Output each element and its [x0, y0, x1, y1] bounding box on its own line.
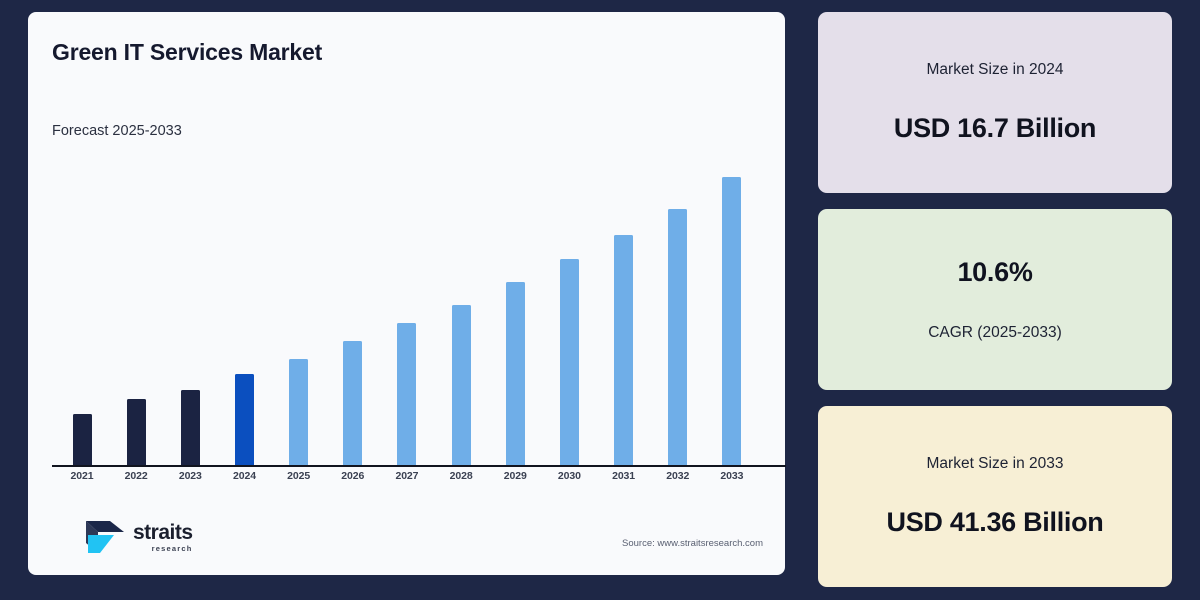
bar-slot [656, 162, 700, 467]
x-axis-label-2028: 2028 [439, 470, 483, 482]
x-axis-label-2021: 2021 [60, 470, 104, 482]
bar-2033[interactable] [722, 177, 741, 467]
bar-slot [385, 162, 429, 467]
bar-2024[interactable] [235, 374, 254, 467]
bar-slot [168, 162, 212, 467]
x-axis-line [52, 465, 786, 468]
straits-research-logo: straits research [84, 517, 193, 557]
bar-2029[interactable] [506, 282, 525, 467]
bar-slot [602, 162, 646, 467]
logo-name: straits [133, 522, 193, 543]
x-axis-label-2025: 2025 [277, 470, 321, 482]
bar-slot [547, 162, 591, 467]
chart-panel: Green IT Services Market Forecast 2025-2… [28, 12, 785, 575]
logo-chevron-icon [84, 517, 126, 557]
x-axis-labels: 2021202220232024202520262027202820292030… [52, 470, 762, 482]
bar-slot [331, 162, 375, 467]
bar-2023[interactable] [181, 390, 200, 467]
logo-subtitle: research [152, 545, 193, 553]
bar-2028[interactable] [452, 305, 471, 467]
x-axis-label-2029: 2029 [493, 470, 537, 482]
bar-2026[interactable] [343, 341, 362, 467]
x-axis-label-2027: 2027 [385, 470, 429, 482]
bar-slot [114, 162, 158, 467]
x-axis-label-2022: 2022 [114, 470, 158, 482]
infographic-root: Green IT Services Market Forecast 2025-2… [0, 0, 1200, 600]
bar-slot [439, 162, 483, 467]
bar-2031[interactable] [614, 235, 633, 467]
source-attribution: Source: www.straitsresearch.com [622, 538, 763, 549]
bar-slot [60, 162, 104, 467]
logo-text: straits research [133, 522, 193, 553]
bar-2032[interactable] [668, 209, 687, 467]
bar-slot [710, 162, 754, 467]
x-axis-label-2032: 2032 [656, 470, 700, 482]
bar-slot [222, 162, 266, 467]
card-market-size-2033: Market Size in 2033USD 41.36 Billion [818, 406, 1172, 587]
card-label-market-size-2033: Market Size in 2033 [927, 455, 1064, 473]
card-value-cagr: 10.6% [957, 257, 1032, 288]
card-cagr: 10.6%CAGR (2025-2033) [818, 209, 1172, 390]
bar-2022[interactable] [127, 399, 146, 467]
bar-chart-plot [52, 162, 762, 467]
bar-2030[interactable] [560, 259, 579, 467]
bar-series [52, 162, 762, 467]
bar-2027[interactable] [397, 323, 416, 467]
bar-2025[interactable] [289, 359, 308, 467]
card-label-market-size-2024: Market Size in 2024 [927, 61, 1064, 79]
x-axis-label-2033: 2033 [710, 470, 754, 482]
card-value-market-size-2024: USD 16.7 Billion [894, 113, 1096, 144]
bar-slot [277, 162, 321, 467]
bar-slot [493, 162, 537, 467]
x-axis-label-2023: 2023 [168, 470, 212, 482]
x-axis-label-2024: 2024 [222, 470, 266, 482]
bar-2021[interactable] [73, 414, 92, 467]
card-market-size-2024: Market Size in 2024USD 16.7 Billion [818, 12, 1172, 193]
x-axis-label-2026: 2026 [331, 470, 375, 482]
stat-cards: Market Size in 2024USD 16.7 Billion10.6%… [818, 12, 1172, 587]
card-label-cagr: CAGR (2025-2033) [928, 324, 1062, 342]
page-title: Green IT Services Market [52, 39, 322, 66]
forecast-subtitle: Forecast 2025-2033 [52, 123, 182, 139]
x-axis-label-2031: 2031 [602, 470, 646, 482]
x-axis-label-2030: 2030 [547, 470, 591, 482]
card-value-market-size-2033: USD 41.36 Billion [887, 507, 1104, 538]
